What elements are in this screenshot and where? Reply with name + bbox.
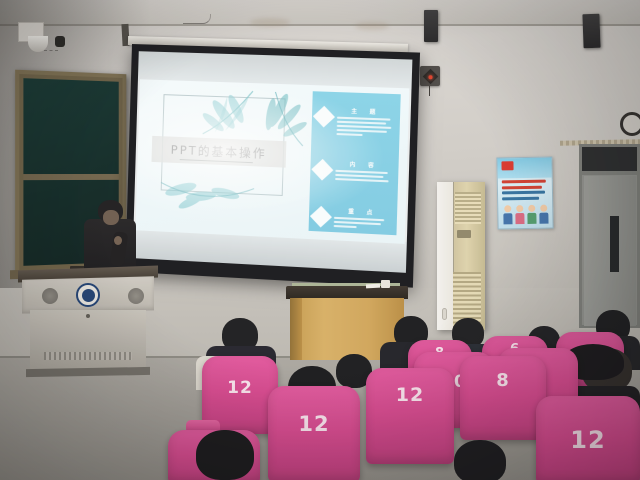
bullet-heading: 内 容	[335, 160, 393, 171]
wall-sensor-device[interactable]	[420, 66, 440, 86]
presenter-face	[103, 210, 119, 225]
seat-number: 12	[202, 378, 278, 398]
air-conditioner-unit	[437, 182, 485, 330]
bullet-text-lines	[335, 169, 393, 182]
seat[interactable]: 12	[268, 386, 360, 480]
ac-upper-vent	[455, 192, 481, 224]
door-glass-panel	[610, 216, 619, 272]
projection-screen[interactable]: PPT的基本操作 主 题	[125, 44, 420, 288]
podium-papers	[366, 284, 380, 289]
bullet-heading: 主 题	[337, 106, 395, 116]
poster-figure	[503, 205, 512, 224]
projected-slide: PPT的基本操作 主 题	[135, 79, 409, 244]
sensor-body-icon	[422, 68, 438, 84]
sensor-cable	[429, 86, 430, 96]
poster-text-block	[502, 180, 548, 203]
wall-poster	[496, 157, 553, 230]
bullet-text-lines	[336, 116, 394, 137]
podium-side-panel	[290, 298, 302, 360]
wall-speaker-right	[582, 14, 600, 49]
camera-cable	[44, 50, 58, 51]
seat-number: 12	[536, 426, 640, 454]
ac-handle[interactable]	[442, 308, 447, 320]
lectern-cabinet[interactable]	[30, 310, 146, 372]
cabinet-lock-icon[interactable]	[86, 314, 90, 318]
presenter-hand	[114, 236, 122, 245]
blackboard-divider	[23, 174, 118, 180]
seat[interactable]: 12	[366, 368, 454, 464]
lecture-hall-scene: PPT的基本操作 主 题	[0, 0, 640, 480]
poster-figure	[539, 205, 548, 224]
lectern-speaker-grille	[42, 288, 58, 304]
seat-number: 12	[366, 384, 454, 406]
diamond-bullet-icon	[313, 106, 335, 128]
presenter-body	[84, 219, 136, 273]
lectern-speaker-grille	[128, 288, 144, 304]
slide-bullet-2: 内 容	[314, 159, 393, 184]
sensor-led-indicator	[428, 74, 432, 78]
poster-illustration	[501, 202, 549, 225]
camera-lens-icon	[55, 36, 65, 47]
emblem-center	[82, 289, 95, 302]
bullet-body: 重 点	[334, 207, 392, 232]
school-emblem-icon	[76, 283, 100, 307]
ac-control-panel[interactable]	[457, 230, 471, 238]
poster-figure	[527, 205, 536, 224]
bullet-body: 主 题	[336, 106, 395, 138]
slide-bullet-1: 主 题	[316, 106, 395, 139]
seat[interactable]: 8	[460, 356, 546, 440]
screen-canvas: PPT的基本操作 主 题	[133, 51, 413, 273]
door-transom-window	[579, 144, 640, 174]
poster-figure	[515, 205, 524, 224]
ceiling-cable	[183, 14, 211, 24]
poster-flag-icon	[501, 161, 513, 170]
slide-content-panel: 主 题 内 容	[309, 91, 401, 235]
slide-bullet-3: 重 点	[313, 206, 392, 232]
podium-cup	[381, 280, 390, 288]
bullet-body: 内 容	[335, 160, 393, 185]
seat[interactable]: 12	[536, 396, 640, 480]
diamond-bullet-icon	[311, 159, 333, 181]
bullet-text-lines	[334, 216, 392, 229]
wall-speaker-left	[424, 10, 438, 42]
seat-number: 12	[268, 412, 360, 436]
wall-clock-icon	[620, 112, 640, 136]
diamond-bullet-icon	[310, 206, 332, 228]
wall-smudge	[355, 22, 389, 30]
seat-number: 8	[460, 370, 546, 391]
wall-smudge	[250, 18, 290, 27]
cabinet-vent	[44, 352, 132, 360]
